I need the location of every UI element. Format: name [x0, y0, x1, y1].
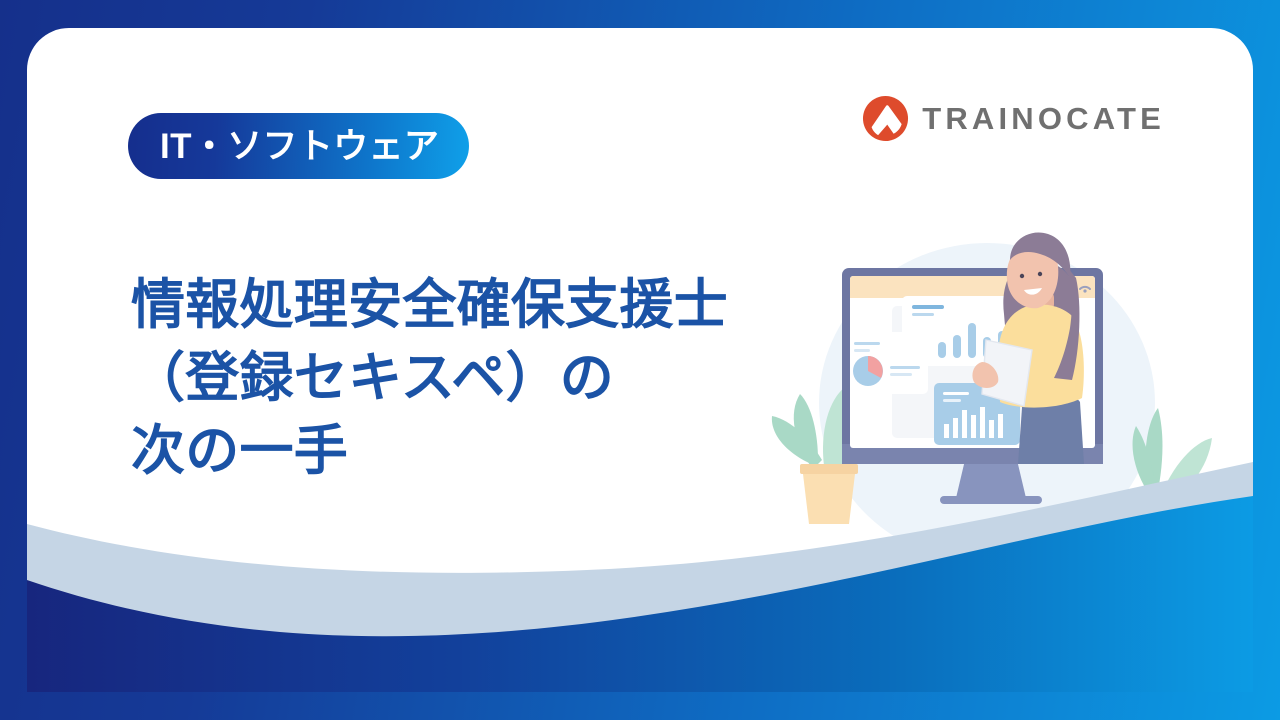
- category-badge-label: IT・ソフトウェア: [160, 129, 439, 164]
- title-line-1: 情報処理安全確保支援士: [131, 269, 891, 342]
- eye-left: [1020, 274, 1024, 278]
- floor-shadow: [850, 537, 1134, 563]
- white-content-card: IT・ソフトウェア 情報処理安全確保支援士 （登録セキスペ）の 次の一手 TRA…: [27, 28, 1253, 692]
- title-line-3: 次の一手: [131, 415, 891, 488]
- trainocate-mountain-mark: [862, 95, 909, 142]
- eye-right: [1038, 272, 1042, 276]
- page-title: 情報処理安全確保支援士 （登録セキスペ）の 次の一手: [131, 269, 891, 488]
- brand-logo[interactable]: TRAINOCATE: [862, 95, 1165, 142]
- title-line-2: （登録セキスペ）の: [131, 342, 891, 415]
- monitor-base: [940, 496, 1042, 504]
- course-banner: IT・ソフトウェア 情報処理安全確保支援士 （登録セキスペ）の 次の一手 TRA…: [0, 0, 1280, 720]
- category-badge[interactable]: IT・ソフトウェア: [128, 113, 469, 179]
- brand-wordmark: TRAINOCATE: [922, 103, 1165, 134]
- monitor-stand: [956, 460, 1026, 498]
